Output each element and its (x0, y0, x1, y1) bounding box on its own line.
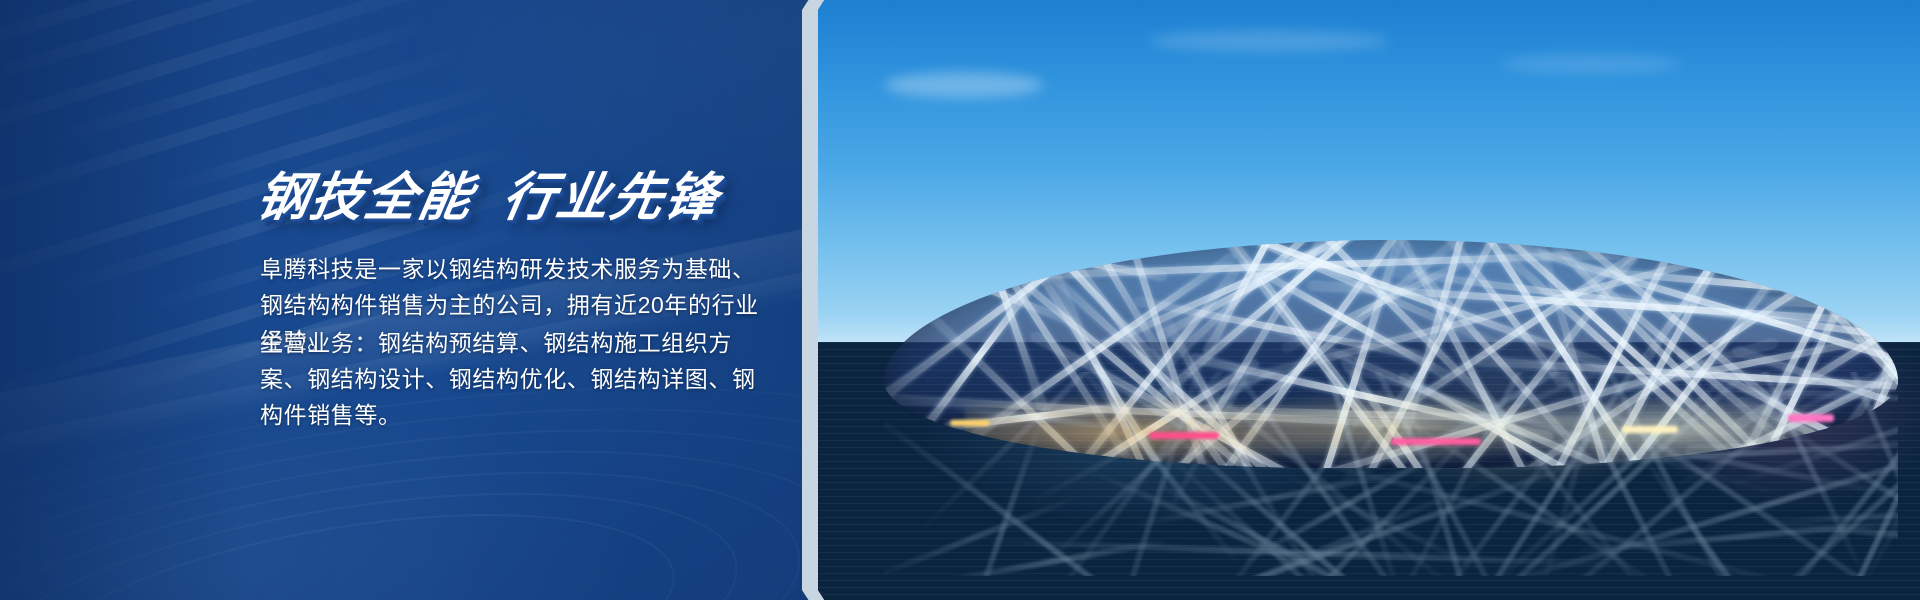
cloud-shape (884, 72, 1044, 98)
promo-banner: 钢技全能行业先锋 阜腾科技是一家以钢结构研发技术服务为基础、钢结构构件销售为主的… (0, 0, 1920, 600)
cloud-shape (1501, 54, 1681, 74)
page-title: 钢技全能行业先锋 (251, 155, 726, 230)
cloud-shape (1149, 30, 1389, 52)
text-content-block: 钢技全能行业先锋 阜腾科技是一家以钢结构研发技术服务为基础、钢结构构件销售为主的… (258, 0, 778, 600)
neon-light (1149, 432, 1219, 439)
birds-nest-stadium-photo (818, 0, 1920, 600)
services-paragraph: 主营业务：钢结构预结算、钢结构施工组织方案、钢结构设计、钢结构优化、钢结构详图、… (260, 325, 772, 433)
neon-light (950, 420, 990, 426)
water-ripples (818, 342, 1920, 600)
headline-part-2: 行业先锋 (498, 169, 724, 227)
neon-light (1622, 426, 1678, 433)
neon-light (1391, 438, 1481, 445)
photo-container (810, 0, 1920, 600)
headline-part-1: 钢技全能 (252, 169, 478, 227)
neon-light (1788, 414, 1834, 422)
